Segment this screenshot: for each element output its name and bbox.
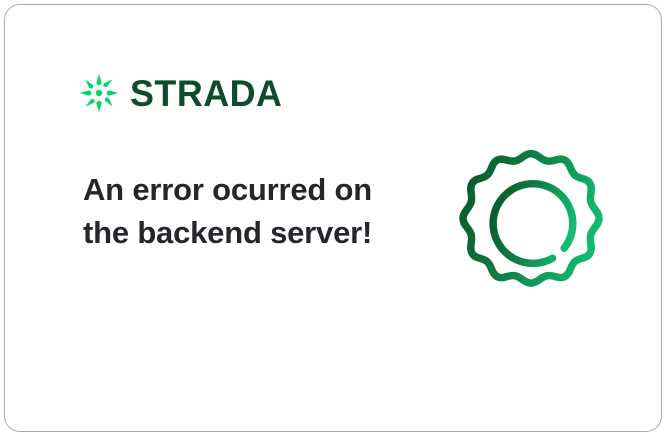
- brand-wordmark: STRADA: [130, 75, 282, 112]
- error-message-text: An error ocurred on the backend server!: [83, 168, 383, 254]
- strada-asterisk-icon: [79, 73, 119, 113]
- brand-lockup: STRADA: [79, 73, 287, 113]
- gear-cog-icon: [448, 142, 614, 308]
- error-card: STRADA An error ocurred on the backend s…: [4, 4, 662, 432]
